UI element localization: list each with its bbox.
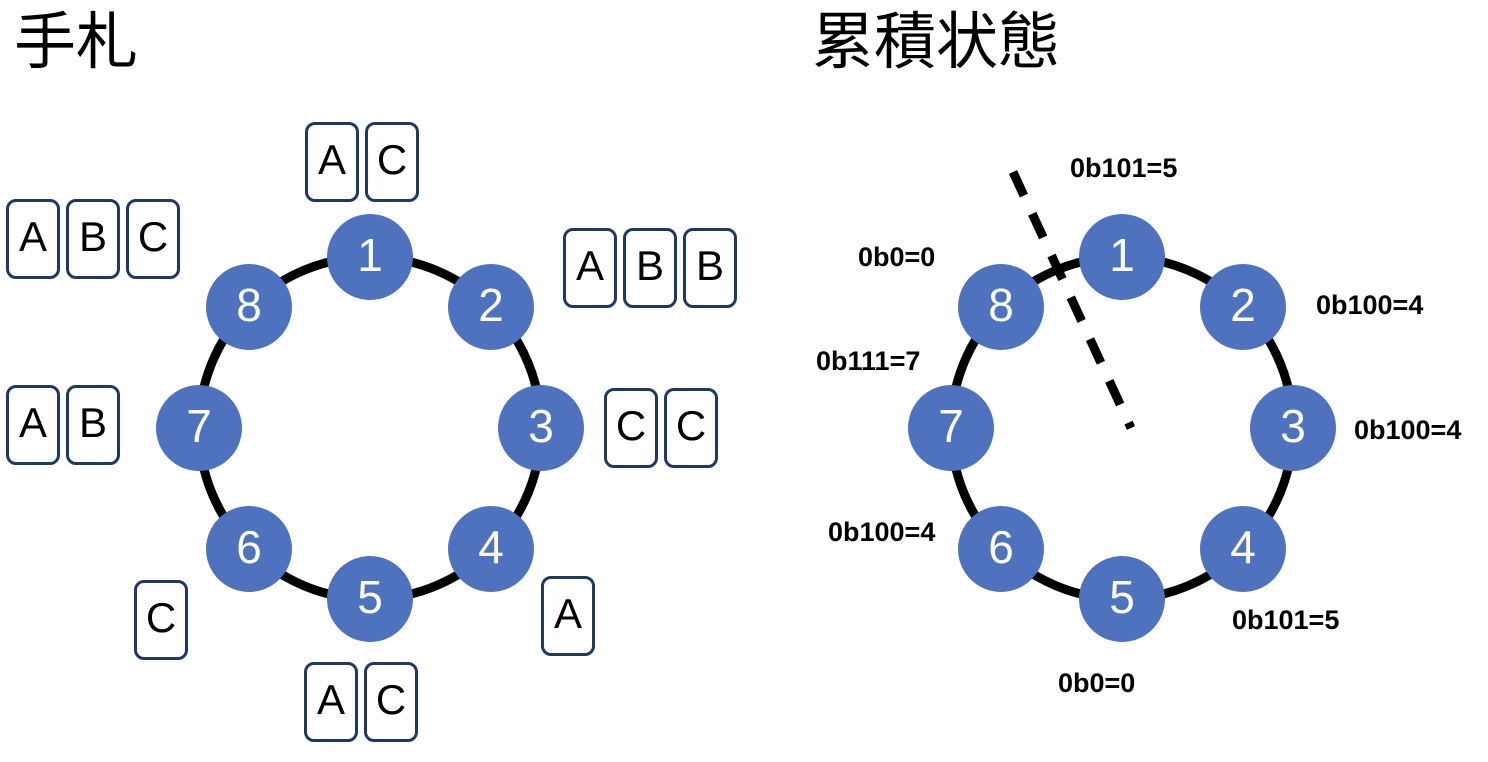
card[interactable]: C: [664, 388, 718, 468]
node-4[interactable]: 4: [448, 506, 534, 592]
node-1[interactable]: 1: [327, 214, 413, 300]
card[interactable]: C: [365, 122, 419, 202]
node-label: 3: [1280, 403, 1306, 449]
node-label: 2: [1230, 282, 1256, 328]
card[interactable]: B: [623, 228, 677, 308]
node-label: 5: [1109, 574, 1135, 620]
hand-node-2: A B B: [563, 228, 737, 308]
node-label: 4: [478, 524, 504, 570]
card[interactable]: A: [541, 576, 595, 656]
node-2[interactable]: 2: [1200, 264, 1286, 350]
right-ring-graph: 1 2 3 4 5 6 7 8: [912, 218, 1332, 638]
card-label: A: [576, 245, 604, 287]
node-3[interactable]: 3: [498, 385, 584, 471]
left-panel-title: 手札: [14, 12, 138, 74]
right-panel-title: 累積状態: [812, 12, 1060, 74]
node-label: 1: [1109, 232, 1135, 278]
node-6[interactable]: 6: [958, 506, 1044, 592]
card-label: A: [317, 679, 345, 721]
diagram-canvas: 手札 累積状態 1 2 3 4 5 6 7 8 A C A: [0, 0, 1488, 762]
card-label: C: [676, 405, 706, 447]
hand-node-6: C: [134, 580, 188, 660]
hand-node-8: A B C: [6, 199, 180, 279]
node-label: 6: [988, 524, 1014, 570]
node-5[interactable]: 5: [1079, 556, 1165, 642]
hand-node-5: A C: [304, 662, 418, 742]
card-label: C: [376, 679, 406, 721]
card[interactable]: C: [126, 199, 180, 279]
state-label-node-1: 0b101=5: [1070, 155, 1177, 182]
card-label: C: [138, 216, 168, 258]
node-label: 4: [1230, 524, 1256, 570]
node-2[interactable]: 2: [448, 264, 534, 350]
state-label-node-7: 0b111=7: [816, 348, 920, 375]
card[interactable]: C: [604, 388, 658, 468]
card[interactable]: A: [304, 662, 358, 742]
node-3[interactable]: 3: [1250, 385, 1336, 471]
node-6[interactable]: 6: [206, 506, 292, 592]
hand-node-7: A B: [6, 385, 120, 465]
state-label-node-2: 0b100=4: [1316, 292, 1423, 319]
node-label: 5: [357, 574, 383, 620]
card-label: A: [318, 139, 346, 181]
card[interactable]: C: [134, 580, 188, 660]
node-8[interactable]: 8: [206, 264, 292, 350]
left-ring-graph: 1 2 3 4 5 6 7 8: [160, 218, 580, 638]
state-label-node-5: 0b0=0: [1058, 670, 1135, 697]
node-5[interactable]: 5: [327, 556, 413, 642]
card[interactable]: C: [364, 662, 418, 742]
node-label: 7: [938, 403, 964, 449]
node-label: 2: [478, 282, 504, 328]
card[interactable]: B: [66, 385, 120, 465]
state-label-node-4: 0b101=5: [1232, 607, 1339, 634]
card-label: B: [79, 216, 107, 258]
card[interactable]: A: [563, 228, 617, 308]
hand-node-4: A: [541, 576, 595, 656]
card[interactable]: A: [305, 122, 359, 202]
card-label: B: [696, 245, 724, 287]
card[interactable]: B: [66, 199, 120, 279]
state-label-node-6: 0b100=4: [828, 519, 935, 546]
card[interactable]: A: [6, 199, 60, 279]
card-label: A: [19, 402, 47, 444]
card-label: A: [19, 216, 47, 258]
node-8[interactable]: 8: [958, 264, 1044, 350]
card-label: A: [554, 593, 582, 635]
node-label: 1: [357, 232, 383, 278]
node-7[interactable]: 7: [156, 385, 242, 471]
node-label: 6: [236, 524, 262, 570]
node-1[interactable]: 1: [1079, 214, 1165, 300]
card-label: C: [377, 139, 407, 181]
card-label: C: [616, 405, 646, 447]
card[interactable]: B: [683, 228, 737, 308]
card-label: B: [79, 402, 107, 444]
node-7[interactable]: 7: [908, 385, 994, 471]
node-label: 8: [236, 282, 262, 328]
card-label: C: [146, 597, 176, 639]
node-label: 8: [988, 282, 1014, 328]
hand-node-1: A C: [305, 122, 419, 202]
node-4[interactable]: 4: [1200, 506, 1286, 592]
node-label: 3: [528, 403, 554, 449]
card-label: B: [636, 245, 664, 287]
state-label-node-3: 0b100=4: [1354, 417, 1461, 444]
node-label: 7: [186, 403, 212, 449]
hand-node-3: C C: [604, 388, 718, 468]
card[interactable]: A: [6, 385, 60, 465]
state-label-node-8: 0b0=0: [858, 244, 935, 271]
